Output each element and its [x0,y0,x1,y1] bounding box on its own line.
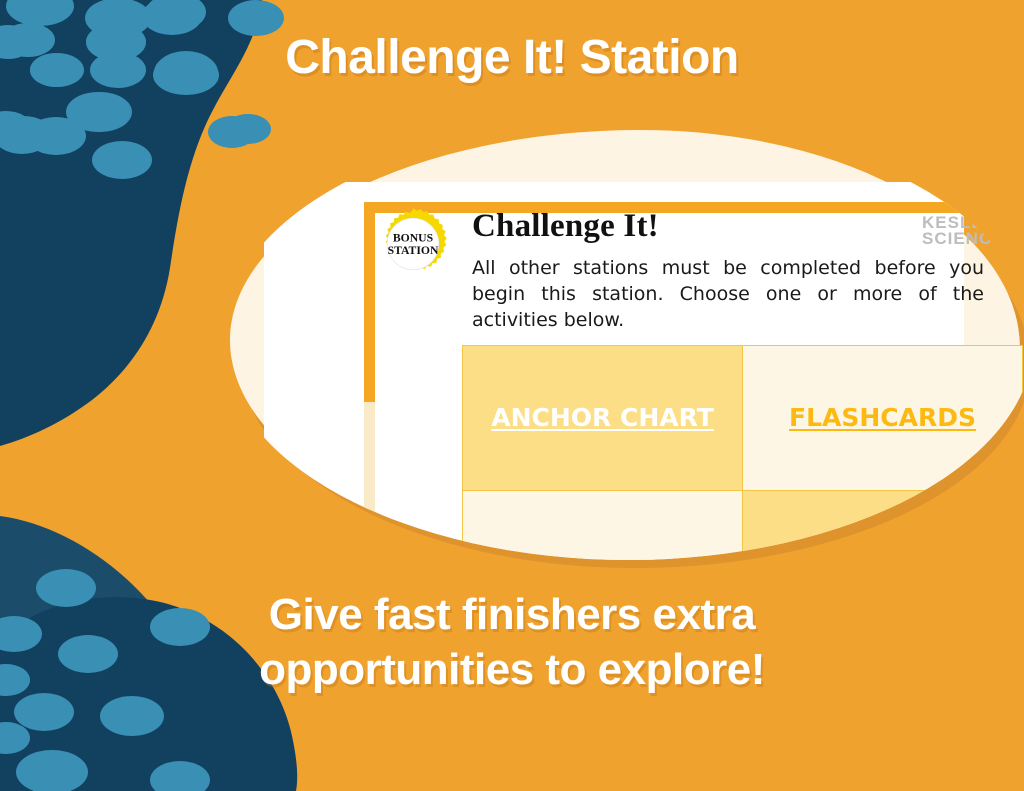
worksheet-border-left-pale [364,402,375,560]
worksheet-preview[interactable]: BONUS STATION Challenge It! All other st… [222,120,1024,560]
activity-cell-row2-left[interactable] [463,491,743,560]
worksheet-border-top [364,202,1004,213]
activity-link-anchor-chart[interactable]: ANCHOR CHART [491,404,714,433]
worksheet-heading: Challenge It! [472,208,659,245]
activity-cell-flashcards[interactable]: FLASHCARDS [743,346,1023,491]
worksheet-instructions: All other stations must be completed bef… [472,255,984,333]
worksheet-clip: BONUS STATION Challenge It! All other st… [222,120,1024,560]
slide-canvas: Challenge It! Station BONUS STATION [0,0,1024,791]
activity-cell-anchor-chart[interactable]: ANCHOR CHART [463,346,743,491]
watermark-line-2: SCIENCE [922,231,1005,247]
activities-table: ANCHOR CHART FLASHCARDS [462,345,1023,560]
activity-link-flashcards[interactable]: FLASHCARDS [789,404,976,433]
page-title: Challenge It! Station [0,30,1024,85]
bonus-station-badge-icon: BONUS STATION [374,205,452,283]
svg-text:BONUS: BONUS [393,232,433,245]
slide-caption: Give fast finishers extra opportunities … [0,587,1024,697]
kesler-science-watermark: KESLER SCIENCE [922,215,1005,247]
svg-text:STATION: STATION [388,244,439,257]
caption-line-1: Give fast finishers extra [269,590,755,639]
caption-line-2: opportunities to explore! [0,642,1024,697]
